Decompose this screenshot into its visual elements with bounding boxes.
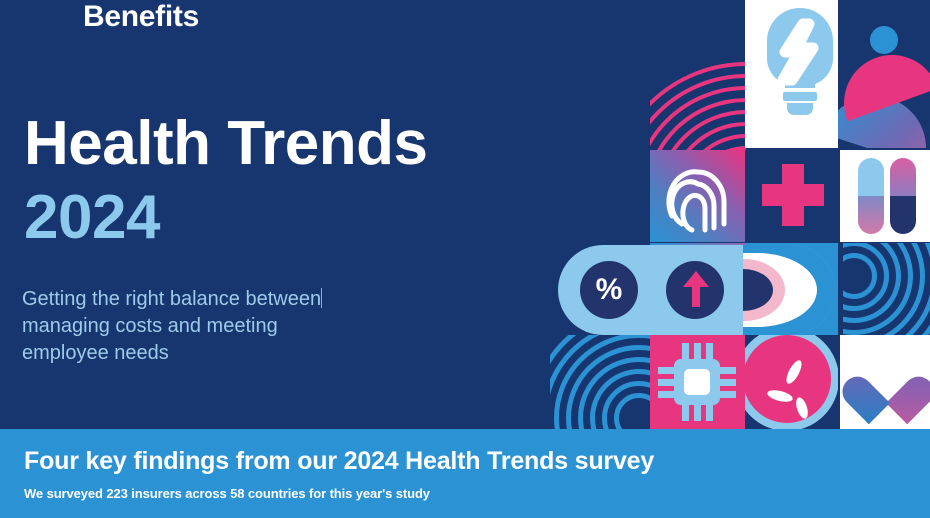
pills-icon-right — [890, 158, 916, 234]
percent-circle: % — [580, 261, 638, 319]
microchip-tile — [650, 335, 745, 429]
text-cursor — [321, 288, 322, 308]
person-head-shape — [870, 26, 898, 54]
chip-leg — [718, 367, 736, 374]
concentric-rings-blue-left-tile — [550, 335, 650, 429]
findings-band: Four key findings from our 2024 Health T… — [0, 429, 930, 518]
medical-cross-tile — [745, 150, 838, 242]
eye-icon — [743, 245, 835, 335]
heart-tile — [840, 335, 930, 429]
findings-subtitle: We surveyed 223 insurers across 58 count… — [24, 486, 430, 501]
findings-title: Four key findings from our 2024 Health T… — [24, 447, 654, 476]
pills-icon-left — [858, 158, 884, 234]
microchip-core — [684, 369, 710, 395]
chip-leg — [718, 391, 736, 398]
concentric-rings-pink-icon — [650, 58, 746, 150]
chip-leg — [694, 403, 701, 421]
person-figure-tile — [838, 0, 930, 148]
up-arrow-shaft — [692, 281, 700, 307]
heart-icon — [860, 357, 916, 407]
fingerprint-icon — [650, 150, 745, 242]
up-arrow-circle — [666, 261, 724, 319]
slide-canvas: Benefits Health Trends 2024 Getting the … — [0, 0, 930, 518]
page-title: Health Trends — [24, 108, 428, 180]
chip-leg — [718, 379, 736, 386]
pills-tile — [840, 150, 930, 242]
hero-subtitle: Getting the right balance between managi… — [22, 286, 442, 367]
brand-label: Benefits — [83, 0, 199, 36]
citrus-slice-tile — [745, 335, 838, 429]
lightning-bolt-icon — [745, 0, 838, 148]
stats-lozenge: % — [558, 245, 835, 335]
medical-cross-icon-bar — [762, 184, 824, 206]
hero-subtitle-line-2: managing costs and meeting — [22, 315, 278, 337]
fingerprint-tile — [650, 150, 745, 242]
page-title-year: 2024 — [24, 182, 160, 254]
hero-graphic-collage: % — [550, 0, 930, 429]
hero-subtitle-line-3: employee needs — [22, 342, 169, 364]
chip-leg — [682, 403, 689, 421]
chip-leg — [706, 403, 713, 421]
concentric-rings-blue-right-tile — [843, 243, 930, 335]
lightbulb-tile — [745, 0, 838, 148]
percent-icon: % — [580, 261, 638, 319]
hero-subtitle-line-1: Getting the right balance between — [22, 288, 321, 310]
